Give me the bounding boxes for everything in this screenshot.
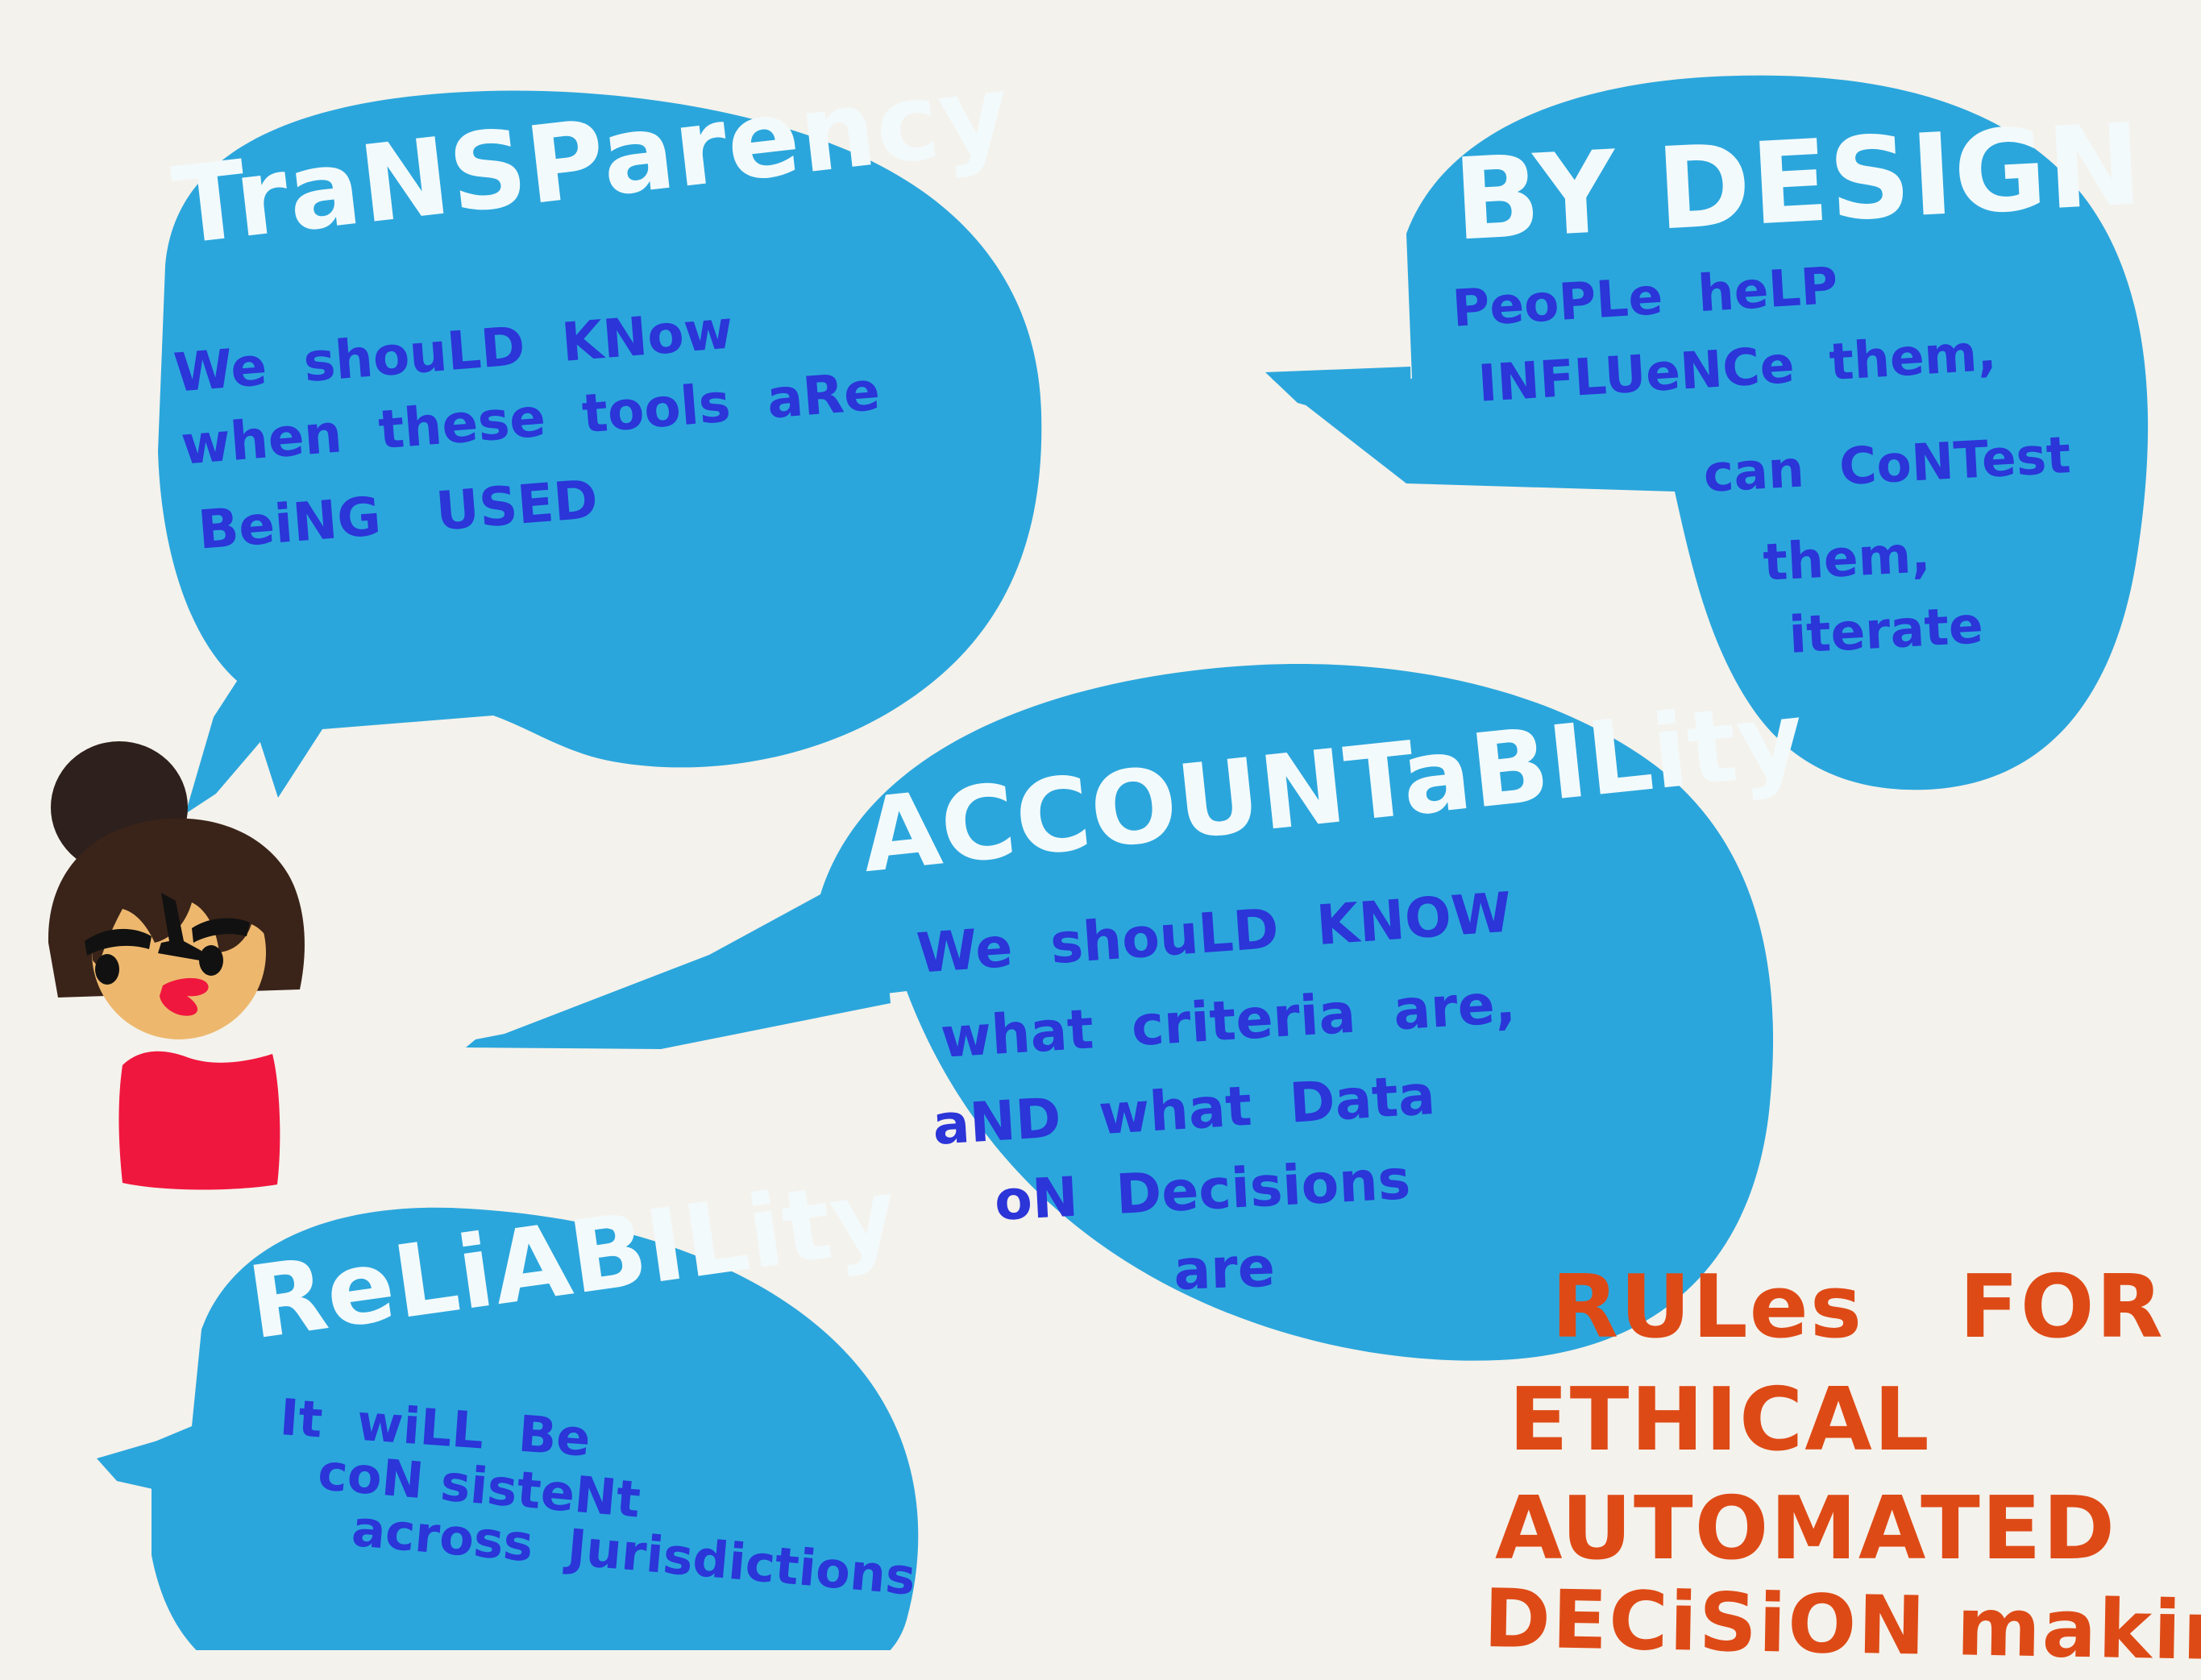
eye-right-icon — [199, 945, 223, 976]
eye-left-icon — [95, 954, 119, 985]
illustration-canvas: TraNSParency We shouLD KNow when these t… — [0, 0, 2201, 1650]
shirt-shape — [119, 1052, 280, 1190]
character-illustration — [0, 0, 2201, 1650]
